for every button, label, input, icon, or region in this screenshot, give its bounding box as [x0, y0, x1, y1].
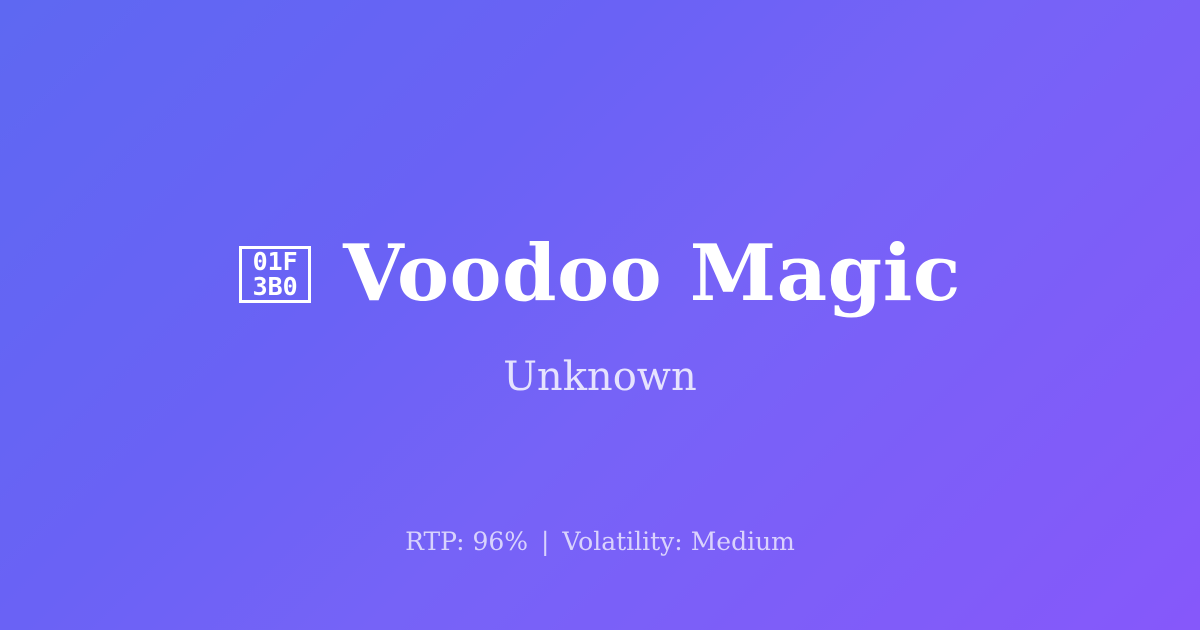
- codepoint-line-top: 01F: [253, 249, 298, 274]
- game-banner-card: 01F 3B0 Voodoo Magic Unknown RTP: 96% | …: [0, 0, 1200, 630]
- volatility-label: Volatility:: [562, 527, 682, 556]
- game-subtitle: Unknown: [503, 354, 697, 400]
- rtp-label: RTP:: [405, 527, 464, 556]
- game-meta-line: RTP: 96% | Volatility: Medium: [0, 527, 1200, 557]
- rtp-value: 96%: [472, 527, 528, 556]
- title-row: 01F 3B0 Voodoo Magic: [239, 232, 961, 316]
- game-title: Voodoo Magic: [343, 232, 961, 316]
- codepoint-line-bottom: 3B0: [253, 274, 298, 299]
- volatility-value: Medium: [691, 527, 795, 556]
- meta-separator: |: [536, 527, 554, 556]
- hero-section: 01F 3B0 Voodoo Magic Unknown: [0, 232, 1200, 400]
- slot-machine-icon: 01F 3B0: [239, 246, 311, 303]
